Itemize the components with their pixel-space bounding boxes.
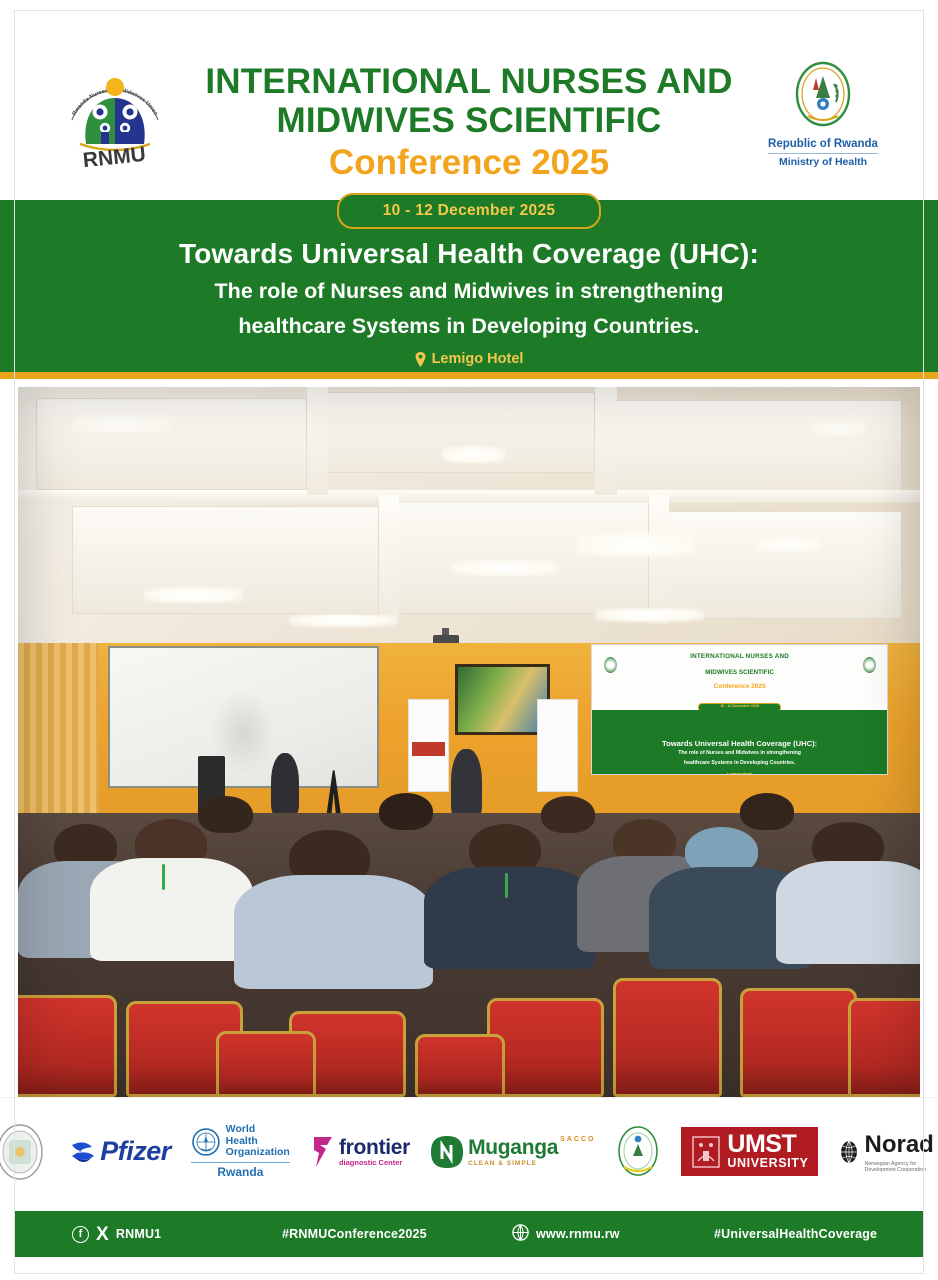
rollup-banner-right: [537, 699, 578, 791]
poster-title-block: INTERNATIONAL NURSES AND MIDWIVES SCIENT…: [190, 58, 748, 184]
theme-subtitle-line-2: healthcare Systems in Developing Countri…: [0, 312, 938, 341]
social-handle-label: RNMU1: [116, 1227, 161, 1241]
muganga-icon: [430, 1135, 464, 1169]
speaker-at-screen: [271, 753, 300, 817]
poster-footer: f X RNMU1 #RNMUConference2025 www.rnmu.r…: [14, 1211, 924, 1257]
venue-row: Lemigo Hotel: [0, 351, 938, 367]
who-line-2: Organization: [226, 1147, 290, 1159]
umst-wordmark: UMST: [727, 1133, 808, 1156]
theme-subtitle-line-1: The role of Nurses and Midwives in stren…: [0, 277, 938, 306]
sponsor-pfizer: Pfizer: [66, 1121, 171, 1183]
muganga-tagline: CLEAN & SIMPLE: [468, 1160, 595, 1167]
pfizer-icon: [66, 1135, 100, 1169]
sponsor-who-rwanda: World Health Organization Rwanda: [191, 1121, 290, 1183]
norad-tagline: Norwegian Agency for Development Coopera…: [865, 1161, 938, 1173]
theme-headline: Towards Universal Health Coverage (UHC):: [0, 236, 938, 271]
globe-icon: [512, 1224, 529, 1244]
stage-banner-venue: Lemigo Hotel: [592, 771, 888, 776]
window-curtain: [18, 643, 99, 828]
sponsor-rwanda-seal: [615, 1121, 661, 1183]
website-label: www.rnmu.rw: [536, 1227, 620, 1241]
projection-screen: [108, 646, 379, 788]
poster-header: Rwanda Nurses and Midwives Union: [0, 0, 938, 200]
rollup-banner-left: [408, 699, 449, 791]
conference-poster: Rwanda Nurses and Midwives Union: [0, 0, 938, 1280]
who-line-1: World Health: [226, 1124, 290, 1148]
republic-of-rwanda-coat-of-arms-icon: [786, 58, 860, 132]
sponsor-umst-university: UMST UNIVERSITY: [681, 1121, 818, 1183]
location-pin-icon: [415, 352, 426, 367]
ceiling: [18, 387, 920, 657]
sponsor-norad: Norad Norwegian Agency for Development C…: [838, 1121, 938, 1183]
sponsor-logo-strip: Pfizer World Health Organization: [0, 1097, 938, 1205]
footer-social-handle[interactable]: f X RNMU1: [72, 1225, 161, 1244]
facebook-icon[interactable]: f: [72, 1226, 89, 1243]
frontier-tagline: diagnostic Center: [339, 1158, 410, 1167]
theme-hashtag-label: #UniversalHealthCoverage: [714, 1227, 877, 1241]
stage-banner-subtitle-1: The role of Nurses and Midwives in stren…: [592, 750, 888, 758]
rwanda-seal-icon: [615, 1125, 661, 1179]
muganga-wordmark: Muganga: [468, 1136, 558, 1160]
gold-divider-rule: [0, 372, 938, 379]
ministry-logo-line-1: Republic of Rwanda: [768, 138, 878, 154]
footer-theme-hashtag[interactable]: #UniversalHealthCoverage: [714, 1227, 877, 1241]
rnmu-seal-icon: [0, 1123, 46, 1181]
stage-banner-subtitle-2: healthcare Systems in Developing Countri…: [592, 760, 888, 768]
title-line-2: MIDWIVES SCIENTIFIC: [190, 101, 748, 140]
who-country-label: Rwanda: [191, 1162, 290, 1179]
stage-banner-theme: Towards Universal Health Coverage (UHC):: [592, 739, 888, 748]
date-badge-wrapper: 10 - 12 December 2025: [0, 193, 938, 229]
conference-hall-photo: INTERNATIONAL NURSES AND MIDWIVES SCIENT…: [18, 387, 920, 1097]
rnmu-logo-mark: Rwanda Nurses and Midwives Union: [56, 58, 174, 170]
muganga-badge: SACCO: [560, 1136, 595, 1143]
event-hashtag-label: #RNMUConference2025: [282, 1227, 427, 1241]
rnmu-logo: Rwanda Nurses and Midwives Union: [40, 58, 190, 170]
sponsor-muganga-sacco: Muganga SACCO CLEAN & SIMPLE: [430, 1121, 595, 1183]
frontier-wordmark: frontier: [339, 1136, 410, 1160]
title-line-3: Conference 2025: [190, 142, 748, 184]
sponsor-rnmu-seal: [0, 1121, 46, 1183]
footer-event-hashtag[interactable]: #RNMUConference2025: [282, 1227, 427, 1241]
umst-subtitle: UNIVERSITY: [727, 1156, 808, 1170]
who-emblem-icon: [191, 1127, 221, 1157]
speaker-presenting: [451, 749, 482, 820]
title-line-1: INTERNATIONAL NURSES AND: [190, 62, 748, 101]
sponsor-frontier: frontier diagnostic Center: [310, 1121, 410, 1183]
ministry-logo-line-2: Ministry of Health: [768, 156, 878, 168]
footer-website[interactable]: www.rnmu.rw: [512, 1224, 620, 1244]
ministry-of-health-logo: Republic of Rwanda Ministry of Health: [748, 58, 898, 168]
umst-crest-icon: [691, 1135, 721, 1169]
norad-wordmark: Norad: [865, 1131, 938, 1159]
stage-banner-title-3: Conference 2025: [592, 683, 888, 690]
stage-backdrop-banner: INTERNATIONAL NURSES AND MIDWIVES SCIENT…: [591, 644, 889, 775]
pfizer-wordmark: Pfizer: [100, 1136, 171, 1167]
x-twitter-icon[interactable]: X: [96, 1225, 109, 1244]
date-badge: 10 - 12 December 2025: [337, 193, 602, 229]
norad-globe-icon: [838, 1134, 860, 1170]
venue-label: Lemigo Hotel: [432, 351, 524, 367]
audience: [18, 813, 920, 1097]
stage-banner-title-1: INTERNATIONAL NURSES AND: [592, 653, 888, 660]
frontier-icon: [310, 1135, 336, 1169]
stage-banner-title-2: MIDWIVES SCIENTIFIC: [592, 669, 888, 676]
conference-photo-area: INTERNATIONAL NURSES AND MIDWIVES SCIENT…: [0, 379, 938, 1097]
